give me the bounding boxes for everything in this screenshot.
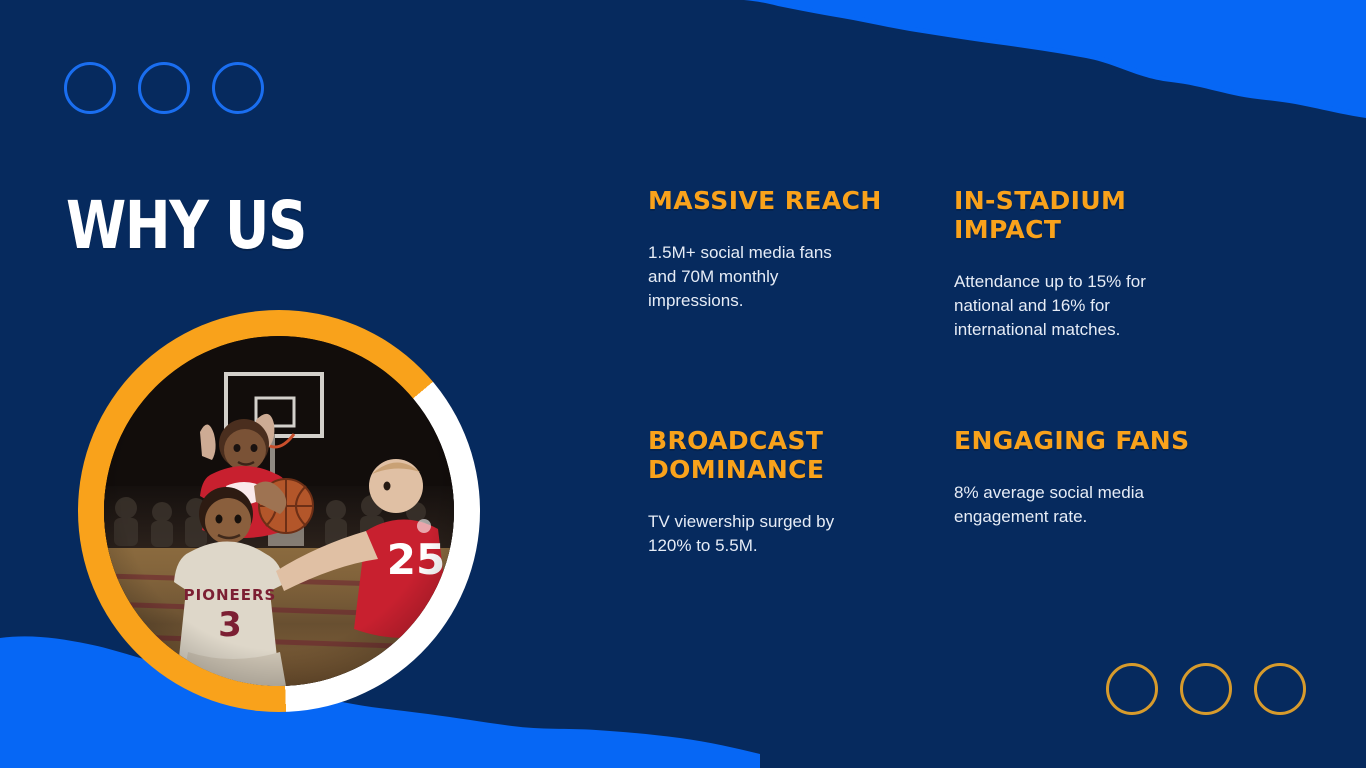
feature-body: 1.5M+ social media fans and 70M monthly … — [648, 241, 853, 313]
circle-outline-icon — [1180, 663, 1232, 715]
slide-canvas: WHY US — [0, 0, 1366, 768]
circle-outline-icon — [138, 62, 190, 114]
feature-grid: MASSIVE REACH 1.5M+ social media fans an… — [648, 186, 1308, 558]
decorative-rings-top-left — [64, 62, 264, 114]
circle-outline-icon — [1254, 663, 1306, 715]
feature-body: 8% average social media engagement rate. — [954, 481, 1166, 529]
feature-engaging-fans: ENGAGING FANS 8% average social media en… — [954, 426, 1254, 558]
feature-title: MASSIVE REACH — [648, 186, 888, 215]
circle-outline-icon — [64, 62, 116, 114]
torn-shape-top-right — [666, 0, 1366, 150]
decorative-rings-bottom-right — [1106, 663, 1306, 715]
feature-title: ENGAGING FANS — [954, 426, 1194, 455]
feature-in-stadium-impact: IN-STADIUM IMPACT Attendance up to 15% f… — [954, 186, 1254, 342]
photo-basketball-game: PIONEERS 3 25 — [104, 336, 454, 686]
circle-outline-icon — [212, 62, 264, 114]
feature-massive-reach: MASSIVE REACH 1.5M+ social media fans an… — [648, 186, 948, 342]
basketball-scene-illustration: PIONEERS 3 25 — [104, 336, 454, 686]
feature-title: BROADCAST DOMINANCE — [648, 426, 888, 484]
feature-broadcast-dominance: BROADCAST DOMINANCE TV viewership surged… — [648, 426, 948, 558]
feature-body: Attendance up to 15% for national and 16… — [954, 270, 1166, 342]
feature-title: IN-STADIUM IMPACT — [954, 186, 1194, 244]
page-title: WHY US — [66, 190, 306, 262]
feature-body: TV viewership surged by 120% to 5.5M. — [648, 510, 853, 558]
photo-circle-frame: PIONEERS 3 25 — [78, 310, 480, 712]
circle-outline-icon — [1106, 663, 1158, 715]
